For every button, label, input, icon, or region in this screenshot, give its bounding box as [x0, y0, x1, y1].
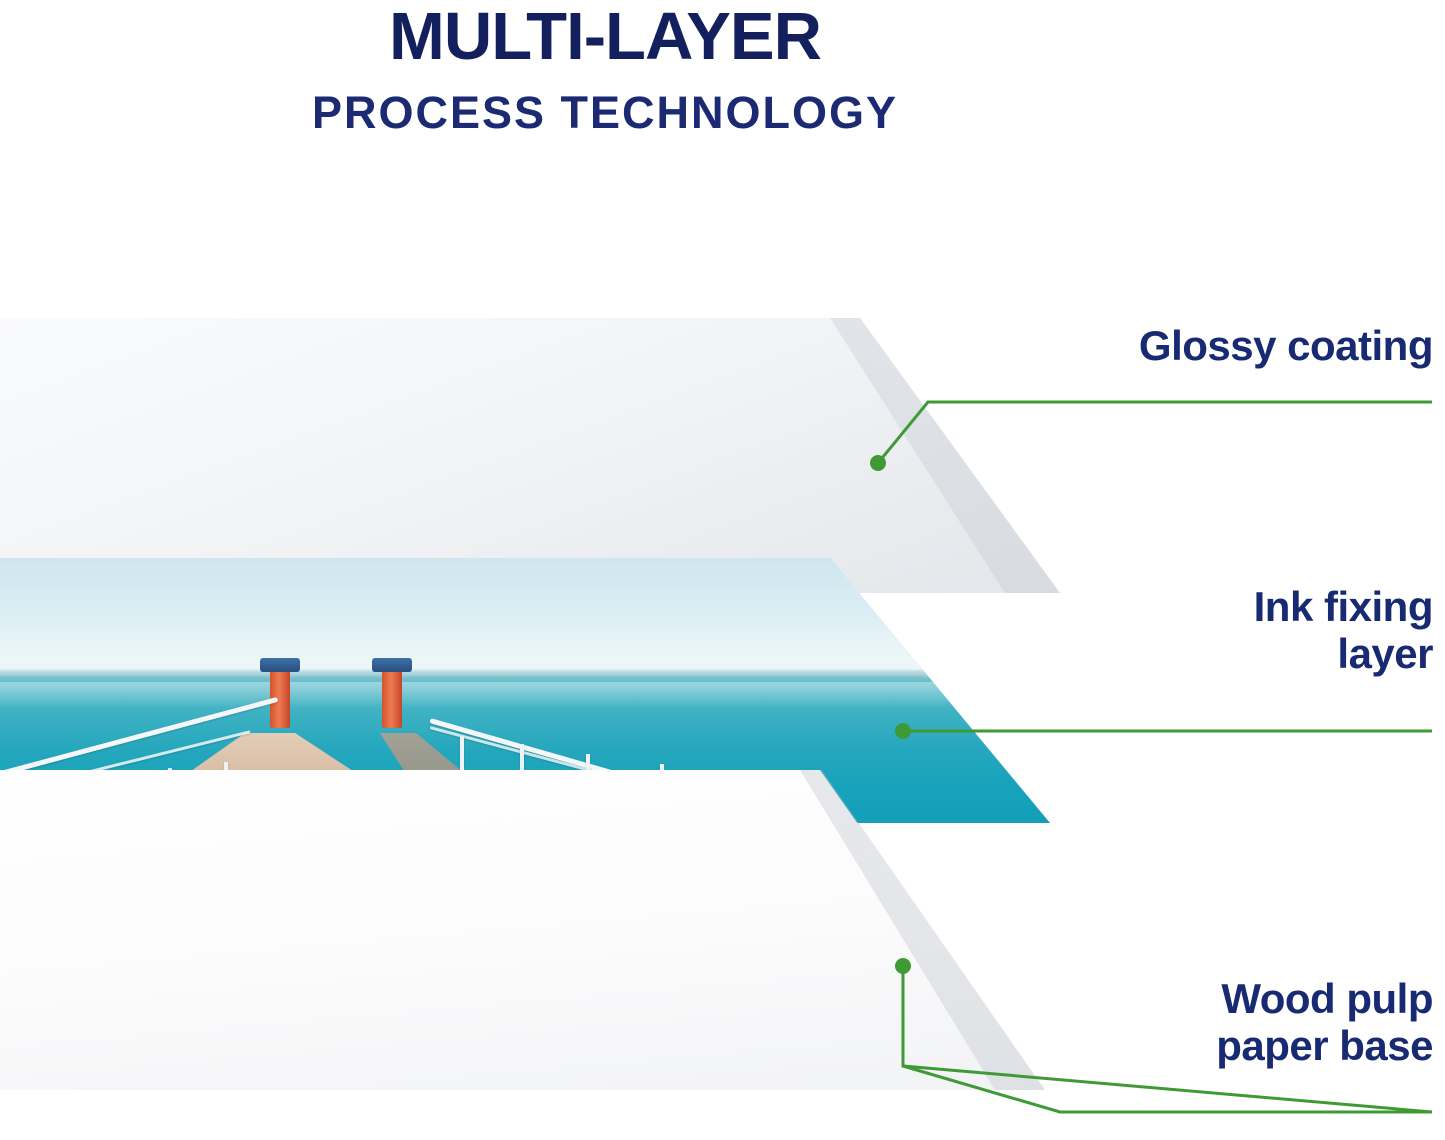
title-block: MULTI-LAYER PROCESS TECHNOLOGY	[0, 0, 1210, 140]
photo-pillar-right	[382, 666, 402, 728]
callout-text-base-line1: Wood pulp	[973, 975, 1433, 1022]
glossy-coating-layer	[0, 318, 1070, 593]
callout-label-ink-fixing-layer: Ink fixing layer	[1003, 583, 1433, 677]
callout-text-base-line2: paper base	[973, 1022, 1433, 1069]
photo-pillar-cap-left	[260, 658, 300, 672]
callout-text-ink-line1: Ink fixing	[1003, 583, 1433, 630]
callout-label-wood-pulp-paper-base: Wood pulp paper base	[973, 975, 1433, 1069]
callout-text-glossy: Glossy coating	[1139, 322, 1433, 369]
page-title: MULTI-LAYER	[0, 2, 1210, 72]
callout-label-glossy-coating: Glossy coating	[913, 322, 1433, 369]
callout-text-ink-line2: layer	[1003, 630, 1433, 677]
photo-sea-highlight	[0, 682, 1060, 708]
photo-pillar-cap-right	[372, 658, 412, 672]
page-subtitle: PROCESS TECHNOLOGY	[0, 86, 1210, 140]
